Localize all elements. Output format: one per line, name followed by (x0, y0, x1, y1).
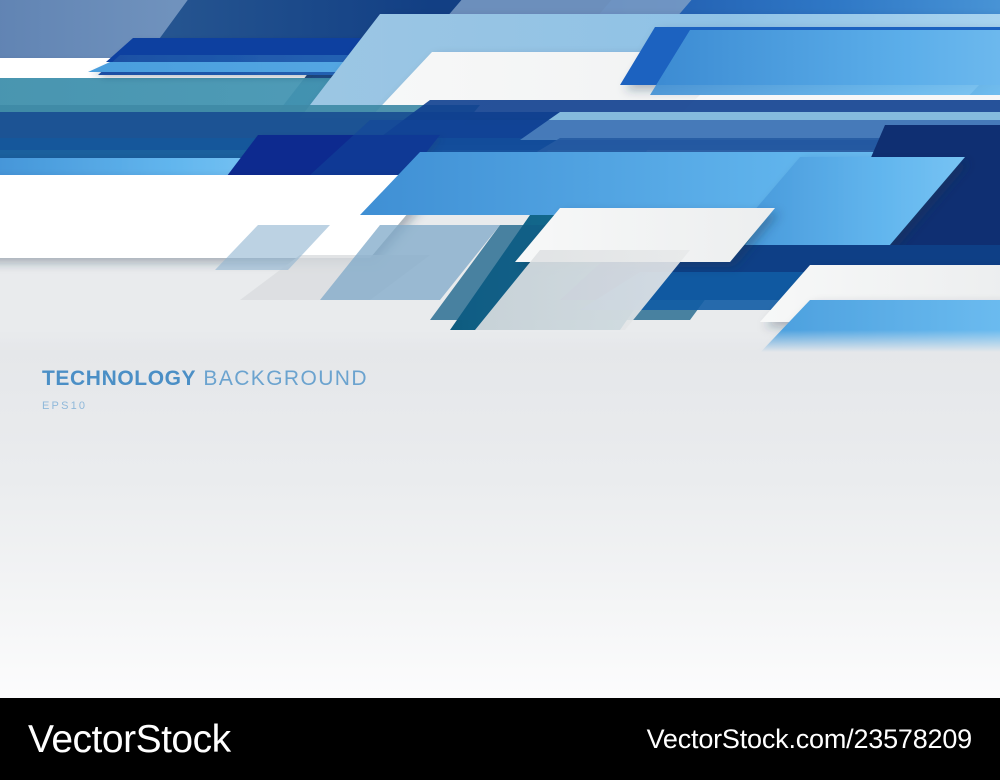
abstract-technology-artwork: TECHNOLOGY BACKGROUND EPS10 (0, 0, 1000, 698)
caption-title-light: BACKGROUND (196, 367, 368, 390)
vectorstock-logo-text: VectorStock (28, 720, 231, 759)
caption-format-label: EPS10 (42, 401, 368, 412)
vectorstock-url-text: VectorStock.com/23578209 (647, 726, 972, 753)
caption-title-bold: TECHNOLOGY (42, 367, 196, 390)
geometric-shapes-svg (0, 0, 1000, 698)
caption-title-line: TECHNOLOGY BACKGROUND (42, 368, 368, 389)
shape-sky-band-topright (650, 30, 1000, 95)
artwork-caption: TECHNOLOGY BACKGROUND EPS10 (42, 368, 368, 412)
vectorstock-watermark-bar: VectorStock VectorStock.com/23578209 (0, 698, 1000, 780)
screenshot-canvas: TECHNOLOGY BACKGROUND EPS10 VectorStock … (0, 0, 1000, 780)
